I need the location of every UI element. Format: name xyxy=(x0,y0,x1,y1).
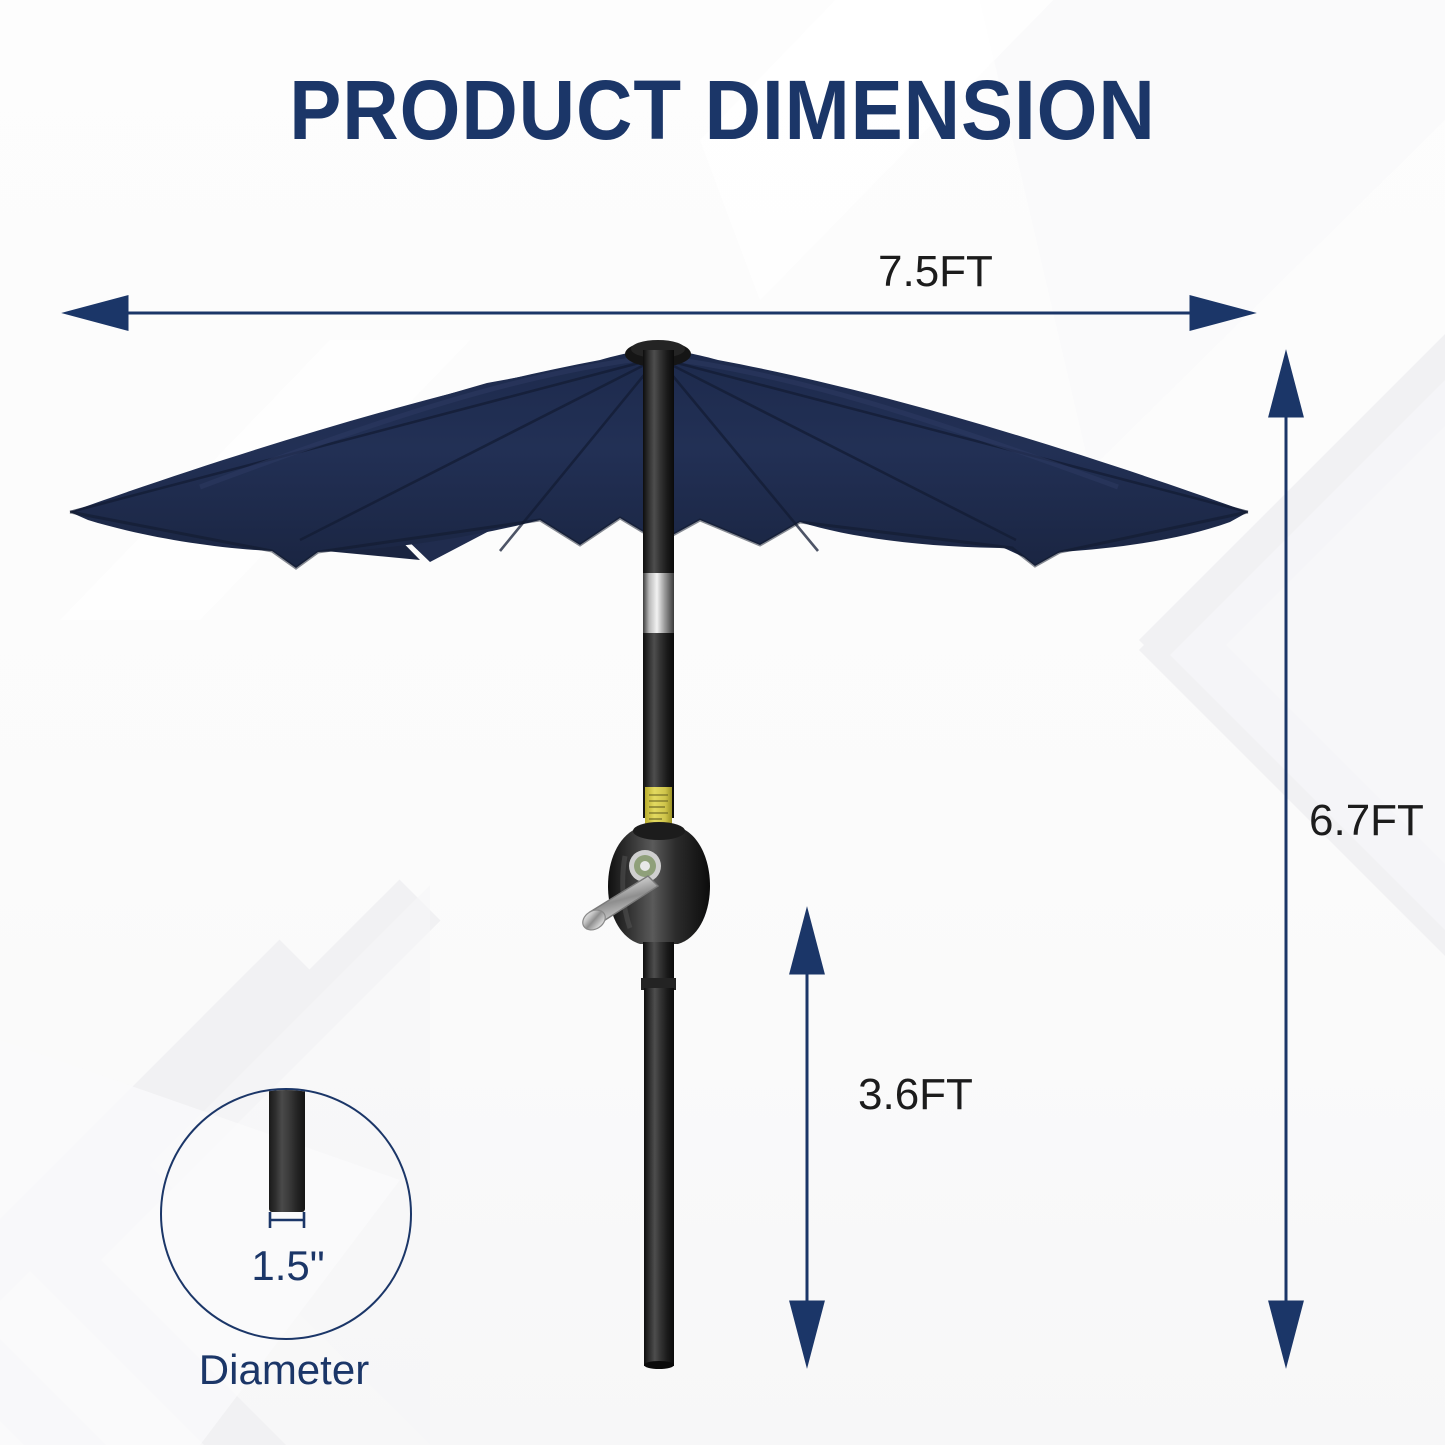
pole-upper xyxy=(643,350,674,575)
page-title: PRODUCT DIMENSION xyxy=(51,62,1395,159)
callout-dimension-bar xyxy=(162,1090,412,1340)
dimension-label-clearance: 3.6FT xyxy=(858,1070,973,1120)
callout-caption: Diameter xyxy=(153,1346,415,1394)
pole-lower xyxy=(644,988,674,1366)
pole-chrome-section xyxy=(643,573,674,635)
dimension-label-total-height: 6.7FT xyxy=(1309,796,1424,846)
product-dimension-infographic: PRODUCT DIMENSION xyxy=(0,0,1445,1445)
dimension-label-width: 7.5FT xyxy=(878,247,993,297)
diameter-callout: 1.5" Diameter xyxy=(160,1088,440,1388)
callout-circle: 1.5" xyxy=(160,1088,412,1340)
pole-lower-upper xyxy=(643,942,674,980)
pole-foot xyxy=(644,1361,674,1369)
